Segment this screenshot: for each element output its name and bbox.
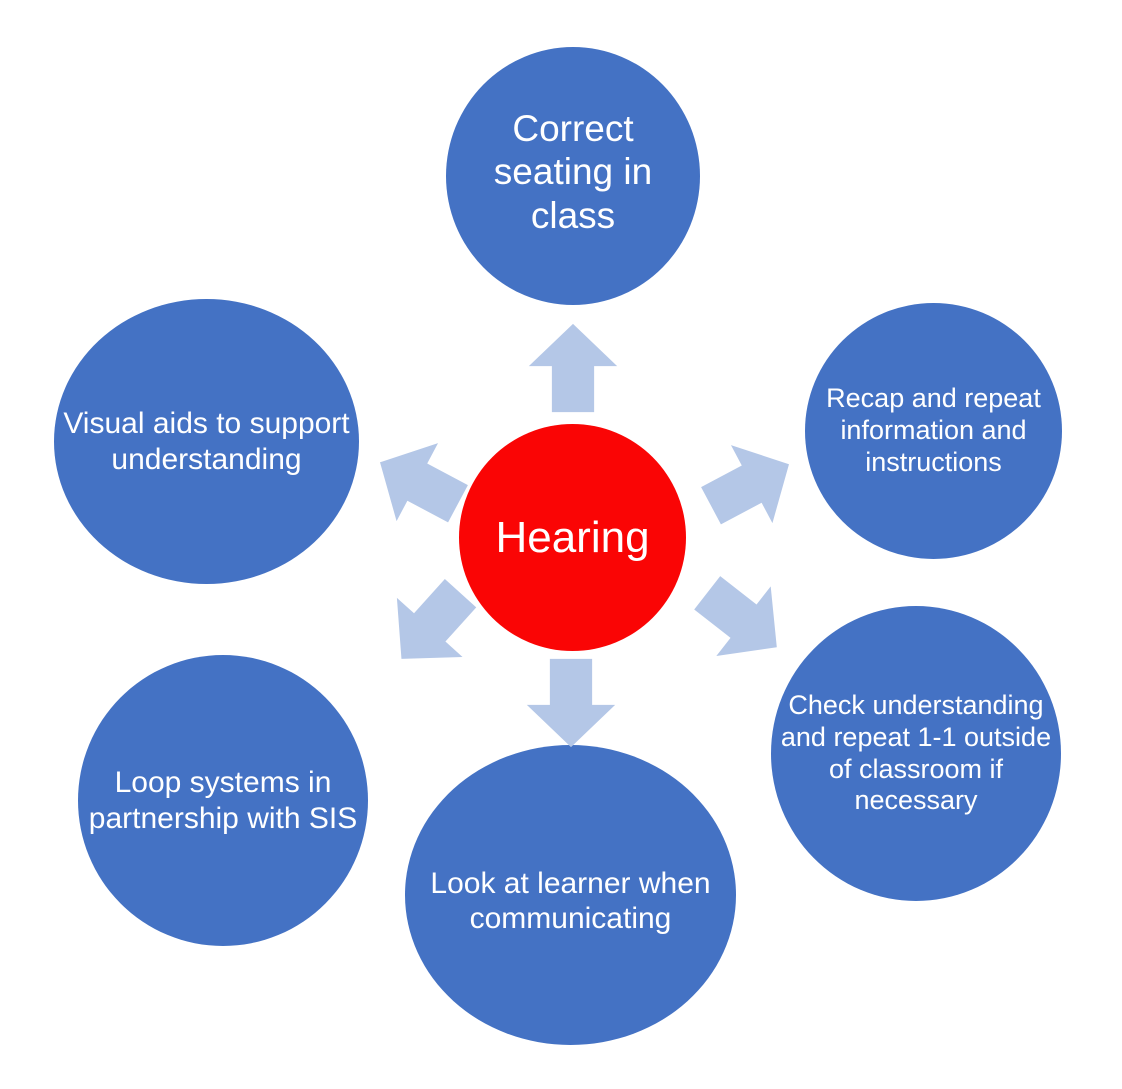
hub-node[interactable]: Hearing [459,424,686,651]
diagram-canvas: Correct seating in class Recap and repea… [0,0,1122,1089]
spoke-node-lower-right[interactable]: Check understanding and repeat 1-1 outsi… [771,606,1061,901]
arrow-down-icon [523,655,619,751]
arrow-down-right-icon [675,553,810,688]
spoke-node-lower-left[interactable]: Loop systems in partnership with SIS [78,655,368,946]
spoke-node-bottom-label: Look at learner when communicating [411,866,730,937]
hub-node-label: Hearing [465,512,680,564]
spoke-node-lower-left-label: Loop systems in partnership with SIS [84,765,362,836]
spoke-node-lower-right-label: Check understanding and repeat 1-1 outsi… [777,690,1055,817]
spoke-node-top-label: Correct seating in class [452,107,694,238]
spoke-node-upper-right-label: Recap and repeat information and instruc… [811,383,1056,479]
arrow-up-icon [525,320,621,416]
spoke-node-upper-right[interactable]: Recap and repeat information and instruc… [805,303,1062,559]
spoke-node-upper-left-label: Visual aids to support understanding [60,406,353,477]
spoke-node-top[interactable]: Correct seating in class [446,47,700,305]
arrow-up-right-icon [685,420,815,550]
spoke-node-upper-left[interactable]: Visual aids to support understanding [54,299,359,584]
spoke-node-bottom[interactable]: Look at learner when communicating [405,745,736,1045]
